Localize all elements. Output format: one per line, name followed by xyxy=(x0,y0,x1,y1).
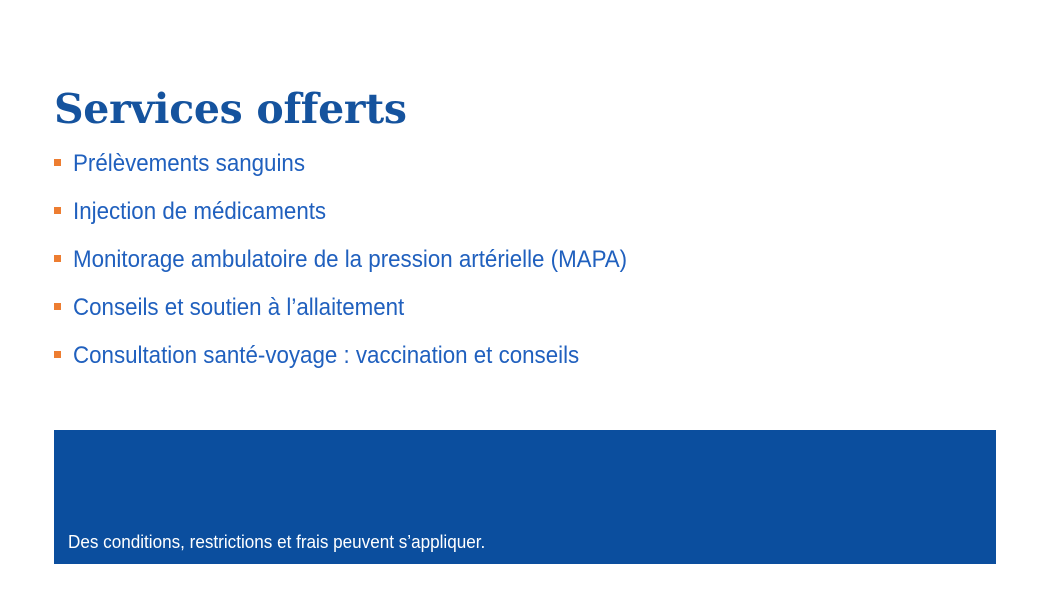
list-item: Conseils et soutien à l’allaitement xyxy=(54,284,954,332)
slide-canvas: Services offerts Prélèvements sanguins I… xyxy=(0,0,1050,600)
square-bullet-icon xyxy=(54,255,61,262)
square-bullet-icon xyxy=(54,303,61,310)
list-item-label: Monitorage ambulatoire de la pression ar… xyxy=(73,236,627,284)
square-bullet-icon xyxy=(54,351,61,358)
list-item: Injection de médicaments xyxy=(54,188,954,236)
list-item-label: Prélèvements sanguins xyxy=(73,140,305,188)
footer-disclaimer-text: Des conditions, restrictions et frais pe… xyxy=(68,531,485,553)
list-item: Prélèvements sanguins xyxy=(54,140,954,188)
square-bullet-icon xyxy=(54,207,61,214)
list-item-label: Consultation santé-voyage : vaccination … xyxy=(73,332,579,380)
page-title: Services offerts xyxy=(54,85,407,134)
square-bullet-icon xyxy=(54,159,61,166)
list-item-label: Injection de médicaments xyxy=(73,188,326,236)
list-item-label: Conseils et soutien à l’allaitement xyxy=(73,284,404,332)
services-bullet-list: Prélèvements sanguins Injection de médic… xyxy=(54,140,954,380)
list-item: Monitorage ambulatoire de la pression ar… xyxy=(54,236,954,284)
footer-banner: Des conditions, restrictions et frais pe… xyxy=(54,430,996,564)
list-item: Consultation santé-voyage : vaccination … xyxy=(54,332,954,380)
